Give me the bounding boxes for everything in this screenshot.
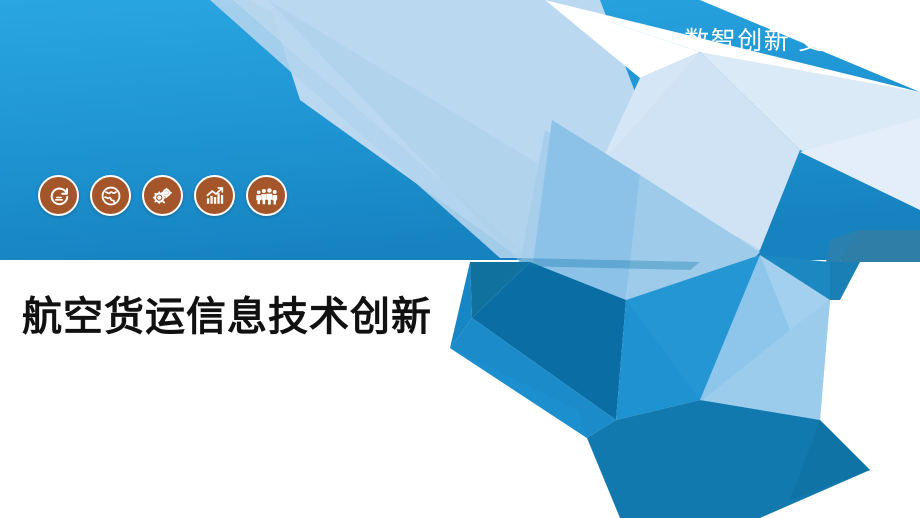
slide-tagline: 数智创新 变革未来: [684, 26, 904, 57]
icon-row: [38, 175, 287, 216]
bar-chart-growth-icon: [204, 185, 226, 207]
icon-badge-refresh-cycle[interactable]: [38, 175, 79, 216]
icon-badge-gears[interactable]: [142, 175, 183, 216]
page-title: 航空货运信息技术创新: [22, 295, 432, 339]
icon-badge-globe[interactable]: [90, 175, 131, 216]
gears-icon: [151, 184, 174, 207]
title-slide: 数智创新 变革未来: [0, 0, 920, 518]
people-group-icon: [255, 184, 279, 208]
globe-icon: [100, 185, 122, 207]
refresh-cycle-icon: [48, 185, 70, 207]
icon-badge-bar-chart-growth[interactable]: [194, 175, 235, 216]
icon-badge-people-group[interactable]: [246, 175, 287, 216]
background-artwork: [0, 0, 920, 518]
